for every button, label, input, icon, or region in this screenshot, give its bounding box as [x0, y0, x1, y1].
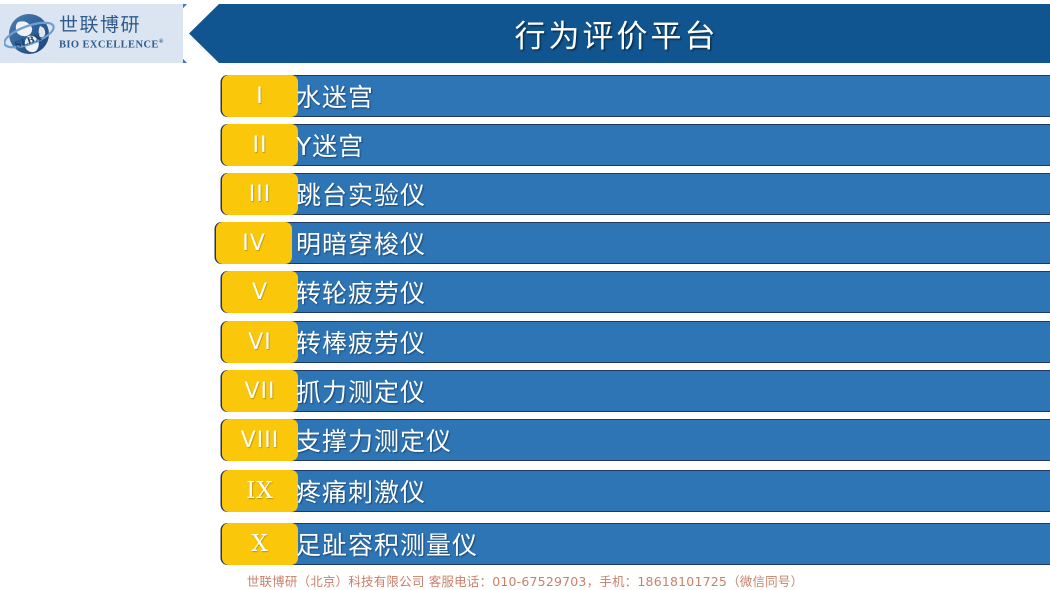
list-item-numeral: II [253, 133, 268, 158]
list-item[interactable]: IX疼痛刺激仪 [222, 470, 1050, 512]
list-item-numeral-badge: X [222, 523, 298, 565]
list-item-label: 转棒疲劳仪 [296, 321, 426, 363]
list-item-numeral-badge: VI [222, 321, 298, 363]
list-item-numeral-badge: IX [222, 470, 298, 512]
list-item-numeral: I [256, 84, 264, 109]
list-item-numeral-badge: II [222, 124, 298, 166]
list-item-numeral: IV [242, 231, 266, 256]
page-title: 行为评价平台 [183, 4, 1050, 63]
list-item-bar [260, 75, 1050, 117]
list-item-numeral-badge: V [222, 271, 298, 313]
list-item-bar [260, 124, 1050, 166]
header: SLBX 世联博研 BIO EXCELLENCE® 行为评价平台 [0, 4, 1050, 63]
list-item[interactable]: III跳台实验仪 [222, 173, 1050, 215]
list-item[interactable]: V转轮疲劳仪 [222, 271, 1050, 313]
list-item[interactable]: VI转棒疲劳仪 [222, 321, 1050, 363]
list-item[interactable]: VII抓力测定仪 [222, 370, 1050, 412]
list-item-numeral: III [249, 182, 271, 207]
list-item-label: 转轮疲劳仪 [296, 271, 426, 313]
list-item-label: 抓力测定仪 [296, 370, 426, 412]
list-item-numeral: IX [246, 478, 273, 504]
list-item-label: 支撑力测定仪 [296, 419, 452, 461]
list-item[interactable]: IV明暗穿梭仪 [222, 222, 1050, 264]
trademark-symbol: ® [159, 39, 164, 45]
list-item[interactable]: VIII支撑力测定仪 [222, 419, 1050, 461]
list-item-numeral: VIII [241, 428, 280, 453]
logo-company-en: BIO EXCELLENCE® [59, 39, 164, 51]
list-item-numeral-badge: I [222, 75, 298, 117]
globe-icon: SLBX [4, 8, 56, 60]
list-item-label: 跳台实验仪 [296, 173, 426, 215]
logo-text-block: 世联博研 BIO EXCELLENCE® [59, 16, 164, 51]
list-item-label: 水迷宫 [296, 75, 374, 117]
list-item-numeral: V [252, 280, 268, 305]
list-item-label: 足趾容积测量仪 [296, 523, 478, 565]
list-item-label: Y迷宫 [296, 124, 364, 166]
footer-contact: 世联博研（北京）科技有限公司 客服电话：010-67529703，手机：1861… [0, 570, 1050, 590]
title-bar: 行为评价平台 [183, 4, 1050, 63]
list-item-label: 明暗穿梭仪 [296, 222, 426, 264]
list-item[interactable]: IIY迷宫 [222, 124, 1050, 166]
list-item[interactable]: X足趾容积测量仪 [222, 523, 1050, 565]
list-item-numeral-badge: VII [222, 370, 298, 412]
list-item-numeral-badge: VIII [222, 419, 298, 461]
list-item[interactable]: I水迷宫 [222, 75, 1050, 117]
list-item-numeral-badge: III [222, 173, 298, 215]
list-item-label: 疼痛刺激仪 [296, 470, 426, 512]
list-item-numeral-badge: IV [216, 222, 292, 264]
list-item-numeral: VII [244, 379, 275, 404]
logo-company-en-text: BIO EXCELLENCE [59, 40, 159, 51]
logo-panel: SLBX 世联博研 BIO EXCELLENCE® [0, 4, 183, 63]
slide-root: SLBX 世联博研 BIO EXCELLENCE® 行为评价平台 I水迷宫IIY… [0, 0, 1050, 590]
logo-company-cn: 世联博研 [59, 16, 164, 35]
list-item-numeral: VI [248, 330, 272, 355]
list-item-numeral: X [251, 531, 268, 557]
